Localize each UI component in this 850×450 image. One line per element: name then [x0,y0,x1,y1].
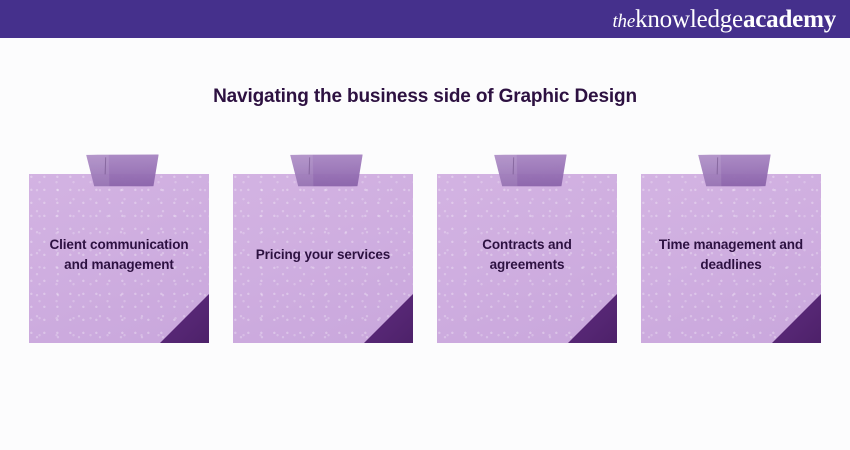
note-label: Client communication and management [29,174,209,343]
tape-crease [717,158,719,175]
brand-logo-academy: academy [743,7,836,32]
note-label: Pricing your services [233,174,413,343]
tape-crease [309,158,311,175]
note-label: Time management and deadlines [641,174,821,343]
top-header-bar: theknowledgeacademy [0,0,850,38]
note-label: Contracts and agreements [437,174,617,343]
page-title: Navigating the business side of Graphic … [0,86,850,108]
sticky-note-3: Contracts and agreements [437,150,617,350]
sticky-note-1: Client communication and management [29,150,209,350]
brand-logo[interactable]: theknowledgeacademy [612,7,850,32]
sticky-note-2: Pricing your services [233,150,413,350]
tape-crease [105,158,107,175]
tape-crease [513,158,515,175]
brand-logo-the: the [612,12,635,31]
brand-logo-knowledge: knowledge [635,7,743,32]
sticky-notes-row: Client communication and management Pric… [29,150,821,350]
sticky-note-4: Time management and deadlines [641,150,821,350]
